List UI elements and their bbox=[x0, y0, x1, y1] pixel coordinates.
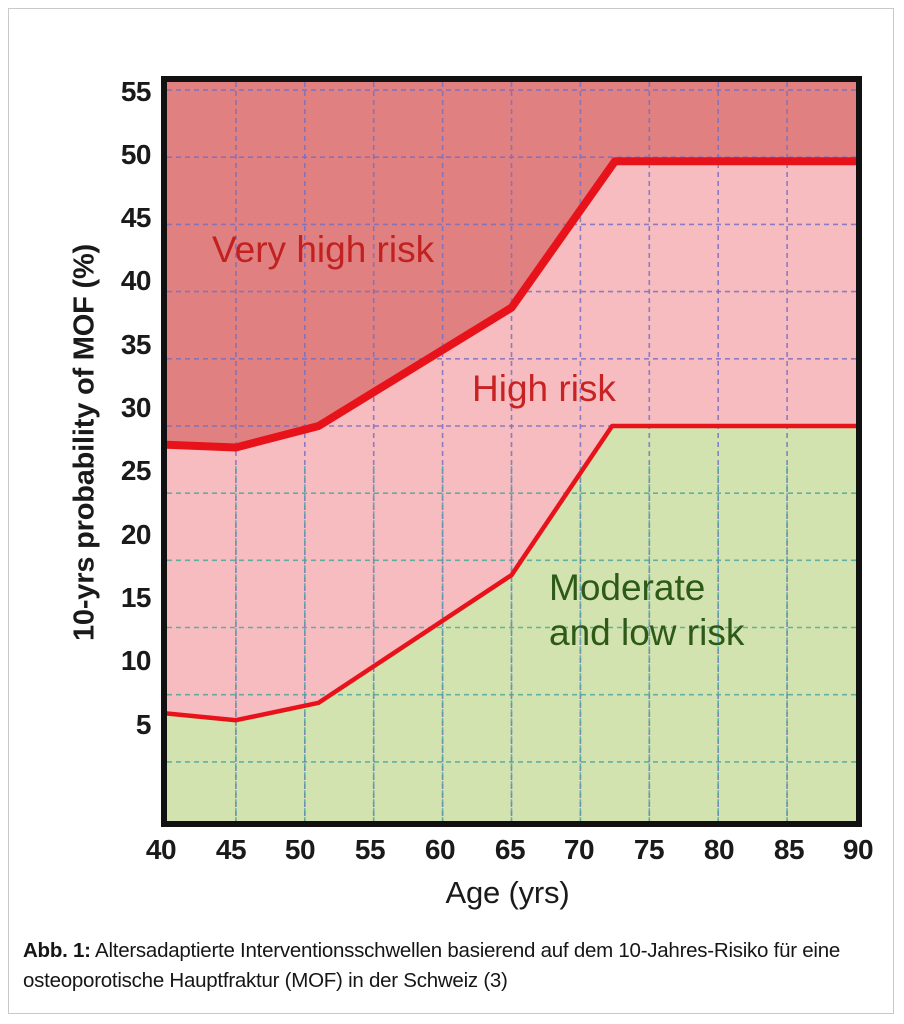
caption-label: Abb. 1: bbox=[23, 939, 91, 962]
x-tick-label: 40 bbox=[126, 834, 196, 866]
figure-caption: Abb. 1: Altersadaptierte Interventionssc… bbox=[23, 936, 881, 995]
x-tick-label: 65 bbox=[475, 834, 545, 866]
x-tick-label: 90 bbox=[823, 834, 893, 866]
x-tick-label: 70 bbox=[544, 834, 614, 866]
x-tick-label: 60 bbox=[405, 834, 475, 866]
caption-text: Altersadaptierte Interventionsschwellen … bbox=[23, 939, 840, 992]
x-tick-label: 85 bbox=[754, 834, 824, 866]
x-tick-label: 80 bbox=[684, 834, 754, 866]
x-tick-label: 45 bbox=[196, 834, 266, 866]
x-tick-label: 55 bbox=[335, 834, 405, 866]
x-tick-label: 75 bbox=[614, 834, 684, 866]
figure-card: 10-yrs probability of MOF (%) 55 50 45 4… bbox=[8, 8, 894, 1014]
x-axis-title: Age (yrs) bbox=[161, 875, 854, 911]
x-tick-label: 50 bbox=[265, 834, 335, 866]
risk-threshold-plot bbox=[167, 82, 856, 821]
plot-area: Very high risk High risk Moderate and lo… bbox=[161, 76, 862, 827]
chart-region: 10-yrs probability of MOF (%) 55 50 45 4… bbox=[9, 9, 895, 924]
